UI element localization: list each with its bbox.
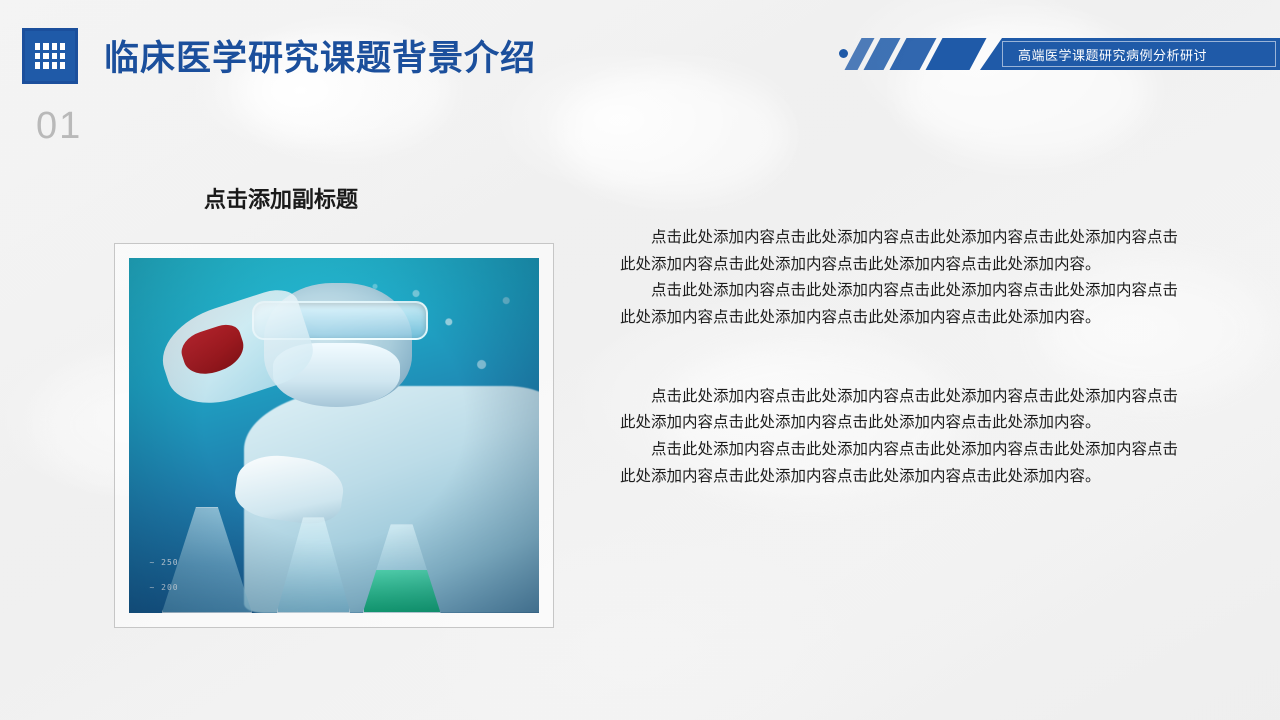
photo-vignette bbox=[129, 258, 539, 613]
body-text-column: 点击此处添加内容点击此处添加内容点击此处添加内容点击此处添加内容点击此处添加内容… bbox=[620, 224, 1186, 489]
ribbon-label: 高端医学课题研究病例分析研讨 bbox=[980, 38, 1280, 70]
page-title: 临床医学研究课题背景介绍 bbox=[104, 30, 536, 81]
body-paragraph: 点击此处添加内容点击此处添加内容点击此处添加内容点击此处添加内容点击此处添加内容… bbox=[620, 224, 1186, 277]
body-paragraph: 点击此处添加内容点击此处添加内容点击此处添加内容点击此处添加内容点击此处添加内容… bbox=[620, 383, 1186, 436]
grid-logo-cells bbox=[35, 43, 65, 69]
grid-logo-icon bbox=[22, 28, 78, 84]
body-paragraph: 点击此处添加内容点击此处添加内容点击此处添加内容点击此处添加内容点击此处添加内容… bbox=[620, 436, 1186, 489]
image-frame: ~ 250 ~ 200 bbox=[114, 243, 554, 628]
section-number: 01 bbox=[36, 105, 82, 148]
slide-header: 临床医学研究课题背景介绍 01 高端医学课题研究病例分析研讨 bbox=[0, 0, 1280, 110]
content-subtitle: 点击添加副标题 bbox=[204, 182, 358, 214]
ribbon-stripe bbox=[925, 38, 986, 70]
ribbon-dot-icon bbox=[839, 49, 848, 58]
lab-researcher-photo: ~ 250 ~ 200 bbox=[129, 258, 539, 613]
header-ribbon: 高端医学课题研究病例分析研讨 bbox=[750, 38, 1280, 72]
body-paragraph: 点击此处添加内容点击此处添加内容点击此处添加内容点击此处添加内容点击此处添加内容… bbox=[620, 277, 1186, 330]
